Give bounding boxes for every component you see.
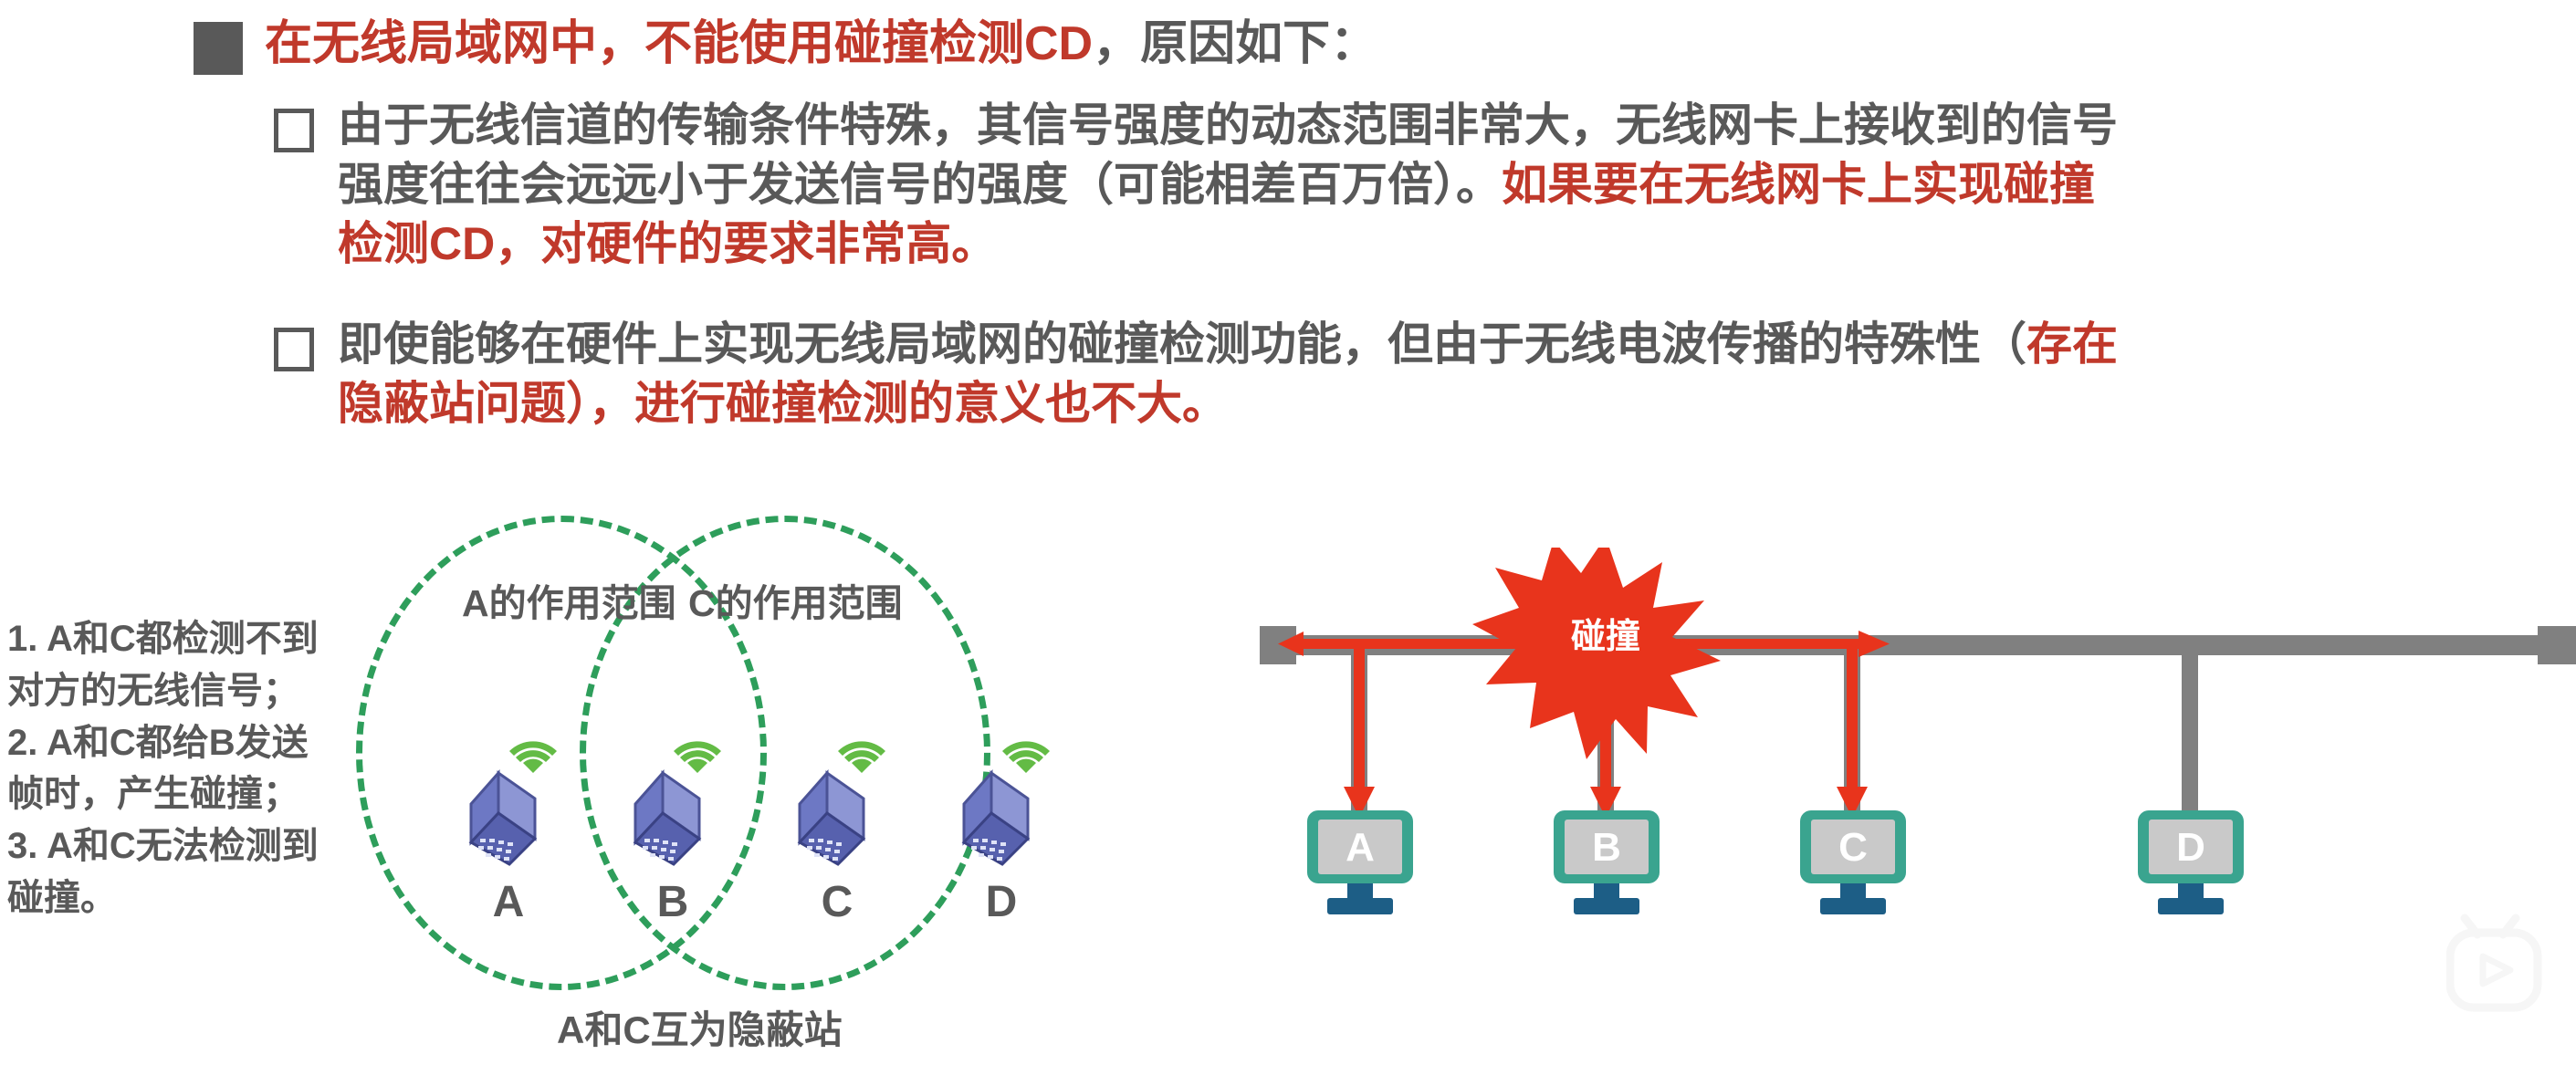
left-note-line-6: 碰撞。: [7, 872, 354, 924]
bullet-1-line-1-seg-1: 由于无线信道的传输条件特殊，其信号强度的动态范围非常大，无线网卡上接收到的信号: [338, 99, 2118, 151]
venn-node-b-label: B: [613, 877, 732, 927]
square-marker-icon: [194, 22, 243, 75]
bus-station-d-label: D: [2176, 825, 2205, 870]
bullet-1-body: 由于无线信道的传输条件特殊，其信号强度的动态范围非常大，无线网卡上接收到的信号 …: [338, 96, 2118, 274]
bullet-1-line-3: 检测CD，对硬件的要求非常高。: [338, 214, 2118, 274]
bus-station-c: C: [1800, 810, 1906, 914]
bus-station-b: B: [1554, 810, 1660, 914]
venn-node-d-graphic: [942, 747, 1061, 875]
empty-square-box-icon: [274, 109, 314, 152]
bus-terminator-right: [2538, 626, 2576, 664]
bullet-1-line-1: 由于无线信道的传输条件特殊，其信号强度的动态范围非常大，无线网卡上接收到的信号: [338, 96, 2118, 155]
left-note-line-2: 对方的无线信号；: [7, 665, 354, 717]
signal-drop-c: [1837, 639, 1868, 818]
bullet-2-line-1: 即使能够在硬件上实现无线局域网的碰撞检测功能，但由于无线电波传播的特殊性（存在: [338, 315, 2118, 374]
bus-station-a-label: A: [1346, 825, 1375, 870]
bullet-item-2: 即使能够在硬件上实现无线局域网的碰撞检测功能，但由于无线电波传播的特殊性（存在 …: [274, 315, 2118, 433]
slide-text-block: 在无线局域网中，不能使用碰撞检测CD，原因如下： 由于无线信道的传输条件特殊，其…: [0, 0, 2576, 475]
laptop-icon: [949, 768, 1048, 874]
headline-red-part: 在无线局域网中，不能使用碰撞检测CD: [265, 17, 1093, 70]
left-note-line-3: 2. A和C都给B发送: [7, 717, 354, 769]
bullet-2-line-2-seg-1: 隐蔽站问题），进行碰撞检测的意义也不大。: [338, 378, 1228, 429]
bullet-2-line-2: 隐蔽站问题），进行碰撞检测的意义也不大。: [338, 374, 2118, 433]
venn-node-d-label: D: [942, 877, 1061, 927]
headline-row: 在无线局域网中，不能使用碰撞检测CD，原因如下：: [194, 16, 1377, 75]
laptop-icon: [456, 768, 555, 874]
bullet-item-1: 由于无线信道的传输条件特殊，其信号强度的动态范围非常大，无线网卡上接收到的信号 …: [274, 96, 2118, 274]
bus-station-a: A: [1307, 810, 1413, 914]
venn-node-a-graphic: [449, 747, 568, 875]
venn-node-c: C: [778, 747, 896, 927]
coverage-circle-a-label: A的作用范围: [462, 572, 676, 627]
bullet-1-line-2: 强度往往会远远小于发送信号的强度（可能相差百万倍）。如果要在无线网卡上实现碰撞: [338, 155, 2118, 214]
venn-node-c-graphic: [778, 747, 896, 875]
bullet-2-line-1-seg-1: 即使能够在硬件上实现无线局域网的碰撞检测功能，但由于无线电波传播的特殊性（: [338, 318, 2026, 370]
tv-play-watermark: [2446, 913, 2565, 1027]
bus-station-c-label: C: [1838, 825, 1868, 870]
headline-gray-part: ，原因如下：: [1093, 17, 1377, 70]
headline-text: 在无线局域网中，不能使用碰撞检测CD，原因如下：: [265, 16, 1377, 72]
bus-station-d: D: [2138, 810, 2244, 914]
left-note-line-4: 帧时，产生碰撞；: [7, 768, 354, 820]
venn-node-b: B: [613, 747, 732, 927]
venn-node-a: A: [449, 747, 568, 927]
bullet-2-line-1-seg-2: 存在: [2026, 318, 2118, 370]
bus-collision-diagram: 碰撞 A B C: [1260, 548, 2576, 931]
venn-node-a-label: A: [449, 877, 568, 927]
bullet-1-line-2-seg-1: 强度往往会远远小于发送信号的强度（可能相差百万倍）。: [338, 159, 1502, 210]
bullet-1-line-3-seg-1: 检测CD，对硬件的要求非常高。: [338, 218, 997, 269]
bus-drop-line-d: [2182, 646, 2198, 821]
bullet-2-body: 即使能够在硬件上实现无线局域网的碰撞检测功能，但由于无线电波传播的特殊性（存在 …: [338, 315, 2118, 433]
left-note-line-5: 3. A和C无法检测到: [7, 820, 354, 872]
empty-square-box-icon: [274, 328, 314, 371]
venn-caption: A和C互为隐蔽站: [557, 999, 843, 1055]
collision-burst-label: 碰撞: [1571, 618, 1640, 656]
signal-drop-a: [1344, 639, 1375, 818]
laptop-icon: [785, 768, 884, 874]
laptop-icon: [621, 768, 719, 874]
left-annotation-note: 1. A和C都检测不到 对方的无线信号； 2. A和C都给B发送 帧时，产生碰撞…: [7, 613, 354, 924]
venn-node-b-graphic: [613, 747, 732, 875]
tv-play-icon: [2446, 913, 2565, 1022]
bus-station-b-label: B: [1592, 825, 1621, 870]
left-note-line-1: 1. A和C都检测不到: [7, 613, 354, 665]
coverage-circle-c-label: C的作用范围: [688, 572, 903, 627]
venn-node-d: D: [942, 747, 1061, 927]
venn-node-c-label: C: [778, 877, 896, 927]
bullet-1-line-2-seg-2: 如果要在无线网卡上实现碰撞: [1502, 159, 2095, 210]
hidden-station-venn-diagram: A的作用范围 C的作用范围: [347, 497, 1196, 1063]
